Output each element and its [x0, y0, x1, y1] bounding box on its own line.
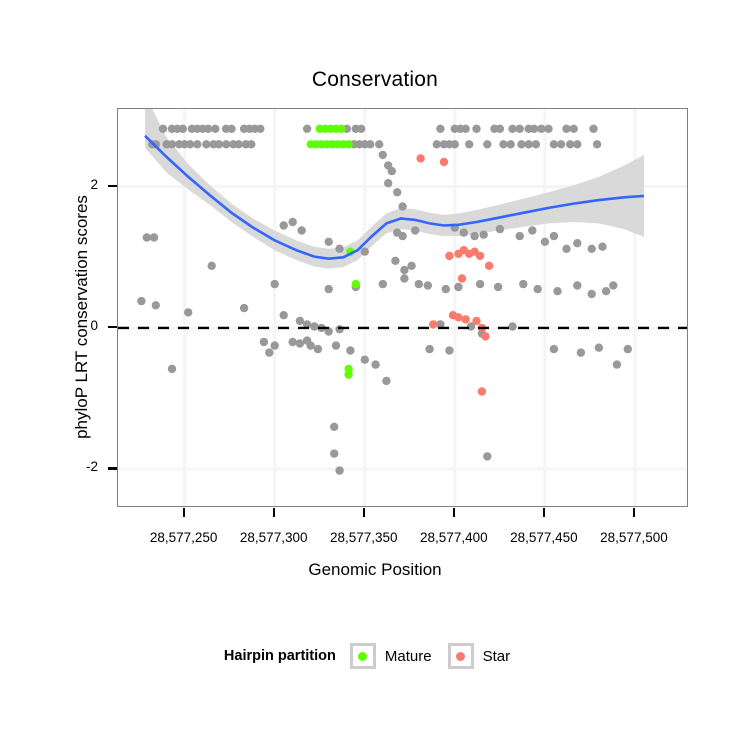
data-point — [298, 226, 306, 234]
data-point — [143, 233, 151, 241]
data-point — [541, 238, 549, 246]
data-point — [525, 140, 533, 148]
data-point — [508, 322, 516, 330]
data-point — [352, 280, 360, 288]
x-tick-mark — [633, 508, 636, 517]
data-point — [186, 140, 194, 148]
data-point — [516, 125, 524, 133]
x-tick-label: 28,577,300 — [224, 530, 324, 545]
data-point — [375, 140, 383, 148]
data-point — [470, 232, 478, 240]
data-point — [588, 245, 596, 253]
x-axis-label: Genomic Position — [0, 560, 750, 580]
data-point — [573, 281, 581, 289]
data-point — [256, 125, 264, 133]
data-point — [433, 140, 441, 148]
data-point — [516, 232, 524, 240]
data-point — [152, 301, 160, 309]
data-point — [483, 452, 491, 460]
data-point — [478, 387, 486, 395]
data-point — [247, 140, 255, 148]
data-point — [168, 365, 176, 373]
data-point — [550, 140, 558, 148]
data-point — [361, 356, 369, 364]
data-point — [289, 218, 297, 226]
legend-key-swatch — [448, 643, 474, 669]
scatter-series-other — [137, 125, 632, 475]
data-point — [458, 274, 466, 282]
data-point — [371, 360, 379, 368]
data-point — [179, 125, 187, 133]
legend-title: Hairpin partition — [224, 648, 336, 664]
data-point — [361, 248, 369, 256]
data-point — [335, 466, 343, 474]
data-point — [573, 239, 581, 247]
legend-label: Star — [483, 648, 511, 665]
y-tick-label: 0 — [68, 318, 98, 333]
data-point — [550, 232, 558, 240]
data-point — [310, 322, 318, 330]
data-point — [528, 226, 536, 234]
data-point — [461, 315, 469, 323]
data-point — [208, 262, 216, 270]
data-point — [440, 158, 448, 166]
data-point — [550, 345, 558, 353]
data-point — [357, 125, 365, 133]
data-point — [344, 370, 352, 378]
data-point — [366, 140, 374, 148]
data-point — [280, 311, 288, 319]
data-point — [202, 140, 210, 148]
data-point — [461, 125, 469, 133]
data-point — [442, 285, 450, 293]
data-point — [436, 125, 444, 133]
data-point — [424, 281, 432, 289]
data-point — [593, 140, 601, 148]
data-point — [508, 125, 516, 133]
data-point — [184, 308, 192, 316]
data-point — [260, 338, 268, 346]
x-tick-mark — [183, 508, 186, 517]
data-point — [289, 338, 297, 346]
data-point — [307, 341, 315, 349]
data-point — [400, 274, 408, 282]
data-point — [480, 231, 488, 239]
data-point — [137, 297, 145, 305]
data-point — [235, 140, 243, 148]
data-point — [337, 125, 345, 133]
data-point — [325, 285, 333, 293]
data-point — [496, 125, 504, 133]
data-point — [411, 226, 419, 234]
data-point — [454, 283, 462, 291]
data-point — [415, 280, 423, 288]
data-point — [460, 228, 468, 236]
data-point — [407, 262, 415, 270]
data-point — [445, 252, 453, 260]
data-point — [537, 125, 545, 133]
y-tick-label: -2 — [68, 459, 98, 474]
data-point — [330, 449, 338, 457]
data-point — [382, 377, 390, 385]
data-point — [265, 348, 273, 356]
data-point — [562, 125, 570, 133]
data-point — [553, 287, 561, 295]
data-point — [557, 140, 565, 148]
data-point — [602, 287, 610, 295]
data-point — [393, 188, 401, 196]
data-point — [519, 280, 527, 288]
data-point — [271, 341, 279, 349]
data-point — [204, 125, 212, 133]
data-point — [400, 266, 408, 274]
data-point — [454, 313, 462, 321]
data-point — [544, 125, 552, 133]
data-point — [483, 140, 491, 148]
x-tick-mark — [453, 508, 456, 517]
legend-entry-star[interactable]: Star — [448, 643, 511, 669]
data-point — [577, 348, 585, 356]
data-point — [168, 140, 176, 148]
data-point — [589, 125, 597, 133]
x-tick-label: 28,577,350 — [314, 530, 414, 545]
data-point — [379, 151, 387, 159]
x-tick-label: 28,577,450 — [494, 530, 594, 545]
data-point — [476, 280, 484, 288]
data-point — [507, 140, 515, 148]
legend-dot-icon — [456, 652, 465, 661]
data-point — [534, 285, 542, 293]
x-tick-mark — [363, 508, 366, 517]
data-point — [472, 125, 480, 133]
data-point — [384, 179, 392, 187]
data-point — [445, 346, 453, 354]
data-point — [425, 345, 433, 353]
data-point — [485, 262, 493, 270]
data-point — [330, 423, 338, 431]
chart-figure: Conservation phyloP LRT conservation sco… — [0, 0, 750, 750]
data-point — [476, 252, 484, 260]
x-tick-mark — [543, 508, 546, 517]
data-point — [588, 290, 596, 298]
data-point — [496, 225, 504, 233]
data-point — [416, 154, 424, 162]
data-point — [271, 280, 279, 288]
data-point — [472, 317, 480, 325]
data-point — [613, 360, 621, 368]
data-point — [150, 233, 158, 241]
confidence-band — [145, 109, 644, 269]
data-point — [391, 257, 399, 265]
data-point — [335, 325, 343, 333]
data-point — [562, 245, 570, 253]
data-point — [465, 140, 473, 148]
data-point — [481, 332, 489, 340]
data-point — [215, 140, 223, 148]
data-point — [494, 283, 502, 291]
data-point — [193, 140, 201, 148]
x-tick-label: 28,577,400 — [404, 530, 504, 545]
data-point — [332, 341, 340, 349]
data-point — [211, 125, 219, 133]
legend-dot-icon — [358, 652, 367, 661]
legend-entry-mature[interactable]: Mature — [350, 643, 432, 669]
data-point — [398, 232, 406, 240]
data-point — [609, 281, 617, 289]
x-tick-label: 28,577,500 — [584, 530, 684, 545]
plot-canvas — [118, 109, 688, 507]
legend: Hairpin partition MatureStar — [0, 643, 750, 669]
y-tick-mark — [108, 467, 117, 470]
data-point — [346, 346, 354, 354]
data-point — [595, 344, 603, 352]
legend-key-swatch — [350, 643, 376, 669]
y-tick-mark — [108, 185, 117, 188]
y-tick-label: 2 — [68, 177, 98, 192]
data-point — [566, 140, 574, 148]
chart-title: Conservation — [0, 68, 750, 92]
data-point — [499, 140, 507, 148]
data-point — [227, 125, 235, 133]
data-point — [344, 140, 352, 148]
data-point — [379, 280, 387, 288]
data-point — [429, 320, 437, 328]
y-tick-mark — [108, 326, 117, 329]
data-point — [517, 140, 525, 148]
x-tick-mark — [273, 508, 276, 517]
data-point — [240, 304, 248, 312]
data-point — [598, 243, 606, 251]
data-point — [573, 140, 581, 148]
data-point — [388, 167, 396, 175]
data-point — [303, 125, 311, 133]
data-point — [451, 140, 459, 148]
data-point — [280, 221, 288, 229]
legend-label: Mature — [385, 648, 432, 665]
data-point — [530, 125, 538, 133]
data-point — [335, 245, 343, 253]
data-point — [624, 345, 632, 353]
data-point — [296, 339, 304, 347]
data-point — [222, 140, 230, 148]
data-point — [159, 125, 167, 133]
data-point — [296, 317, 304, 325]
legend-entries: MatureStar — [350, 643, 526, 669]
data-point — [532, 140, 540, 148]
x-tick-label: 28,577,250 — [134, 530, 234, 545]
data-point — [314, 345, 322, 353]
data-point — [570, 125, 578, 133]
plot-panel — [117, 108, 688, 507]
data-point — [398, 202, 406, 210]
data-point — [325, 238, 333, 246]
